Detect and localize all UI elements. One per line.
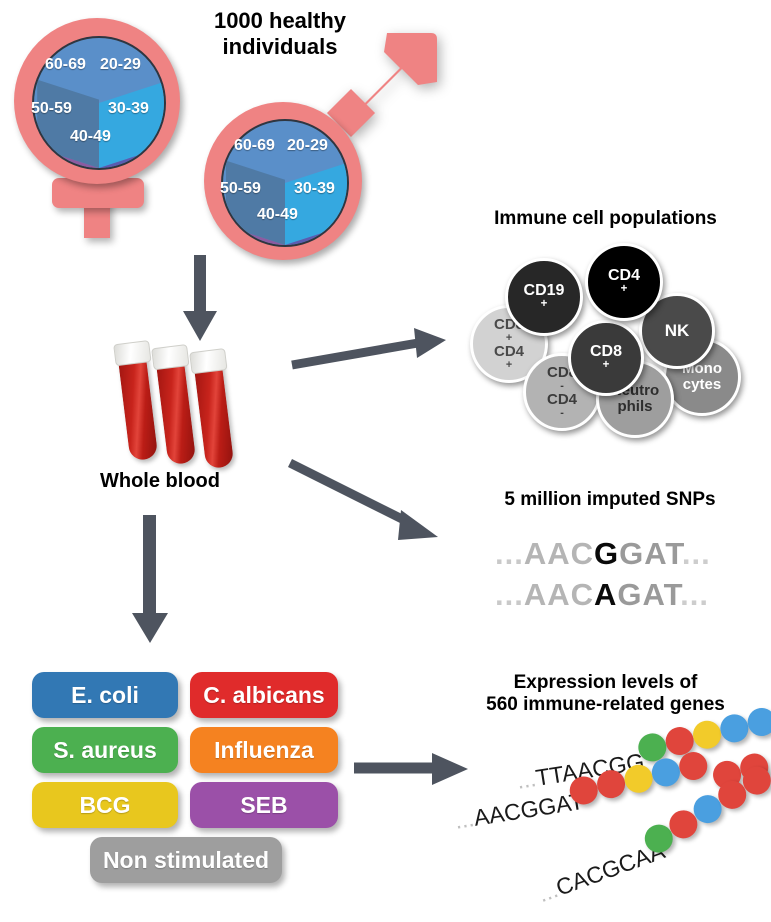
immune-cell-neutrophils: Neutro phils (596, 360, 674, 438)
immune-cell-label-line: cytes (682, 377, 722, 393)
pie-label-20-29: 20-29 (287, 137, 328, 155)
stimulation-calbicans[interactable]: C. albicans (190, 672, 338, 718)
snp-suffix: GAT (617, 577, 680, 612)
immune-cell-label-line: NK (665, 322, 690, 340)
immune-cell-label-line: CD8+ (494, 317, 524, 344)
immune-cell-nk: NK (639, 293, 715, 369)
immune-cell-label-line: CD4+ (494, 344, 524, 371)
whole-blood-label: Whole blood (60, 470, 260, 494)
snp-row: ...AACGGAT... (495, 536, 711, 572)
immune-cell-cd8p-cd4p: CD8+ CD4+ (470, 305, 548, 383)
stimulation-seb[interactable]: SEB (190, 782, 338, 828)
stimulation-label: E. coli (71, 682, 139, 709)
blood-tube-cap (151, 344, 189, 370)
arrow-blood-to-snps (288, 455, 453, 550)
stimulation-label: Non stimulated (103, 847, 269, 874)
stimulation-ecoli[interactable]: E. coli (32, 672, 178, 718)
whole-blood-tubes (110, 338, 250, 468)
male-gender-symbol: 20-29 30-39 40-49 50-59 60-69 (200, 82, 430, 262)
stimulation-influenza[interactable]: Influenza (190, 727, 338, 773)
pie-label-20-29: 20-29 (100, 56, 141, 74)
snp-variant-base: G (594, 536, 619, 571)
pie-label-40-49: 40-49 (70, 128, 111, 146)
stimulation-label: Influenza (214, 737, 314, 764)
snp-prefix: AAC (524, 536, 594, 571)
stimulation-label: C. albicans (203, 682, 324, 709)
blood-tube-body (117, 351, 158, 462)
stimulation-label: BCG (79, 792, 130, 819)
immune-cell-cd8p: CD8+ (568, 320, 644, 396)
pie-label-30-39: 30-39 (108, 100, 149, 118)
arrow-cohort-to-blood (178, 255, 222, 343)
stimulation-saureus[interactable]: S. aureus (32, 727, 178, 773)
immune-cell-label-line: CD8+ (590, 344, 622, 373)
immune-cell-populations-title: Immune cell populations (440, 208, 771, 230)
arrow-blood-to-stimulations (128, 515, 172, 645)
stimulation-label: S. aureus (53, 737, 157, 764)
figure-canvas: 1000 healthy individuals 20-29 30-39 40-… (0, 0, 771, 922)
arrow-stimulations-to-expression (352, 748, 472, 790)
snp-tail: ... (680, 577, 709, 612)
immune-cell-label-line: CD4- (547, 392, 577, 419)
immune-cell-label-line: Mono (682, 361, 722, 377)
expression-title: Expression levels of 560 immune-related … (440, 672, 771, 717)
expression-strand: ...CACGCAA (534, 837, 668, 908)
immune-cell-label-line: CD19+ (524, 283, 565, 312)
pie-label-60-69: 60-69 (234, 137, 275, 155)
snp-lead: ... (495, 536, 524, 571)
immune-cell-cd4p: CD4+ (585, 243, 663, 321)
snp-sequences: ...AACGGAT... ...AACAGAT... (495, 536, 745, 618)
pie-label-50-59: 50-59 (220, 180, 261, 198)
immune-cell-monocytes: Mono cytes (663, 338, 741, 416)
arrow-blood-to-immune (290, 322, 450, 377)
snp-prefix: AAC (524, 577, 594, 612)
immune-cell-label-line: Neutro (611, 383, 659, 399)
snps-title: 5 million imputed SNPs (450, 489, 770, 511)
snp-row: ...AACAGAT... (495, 577, 709, 613)
immune-cell-label-line: phils (611, 399, 659, 415)
blood-tube-cap (189, 348, 227, 374)
female-gender-symbol: 20-29 30-39 40-49 50-59 60-69 (8, 18, 188, 238)
snp-suffix: GAT (619, 536, 682, 571)
stimulation-label: SEB (240, 792, 287, 819)
pie-label-40-49: 40-49 (257, 206, 298, 224)
expression-bead (718, 712, 750, 744)
pie-label-60-69: 60-69 (45, 56, 86, 74)
stimulation-non-stimulated[interactable]: Non stimulated (90, 837, 282, 883)
blood-tube-cap (113, 340, 151, 366)
pie-label-50-59: 50-59 (31, 100, 72, 118)
snp-lead: ... (495, 577, 524, 612)
expression-strands: ...TTAACGG ...AACGGAT ...CACGCAA (455, 740, 771, 915)
immune-cell-cd19p: CD19+ (505, 258, 583, 336)
stimulation-bcg[interactable]: BCG (32, 782, 178, 828)
immune-cell-cd8n-cd4n: CD8- CD4- (523, 353, 601, 431)
pie-label-30-39: 30-39 (294, 180, 335, 198)
immune-cell-label-line: CD8- (547, 365, 577, 392)
immune-cell-label-line: CD4+ (608, 268, 640, 297)
snp-tail: ... (682, 536, 711, 571)
expression-strand: ...AACGGAT (453, 788, 586, 835)
stimulation-panel: E. coli C. albicans S. aureus Influenza … (32, 672, 340, 894)
expression-bead (691, 719, 723, 751)
snp-variant-base: A (594, 577, 617, 612)
expression-sequence-bases: AACGGAT (472, 788, 585, 831)
